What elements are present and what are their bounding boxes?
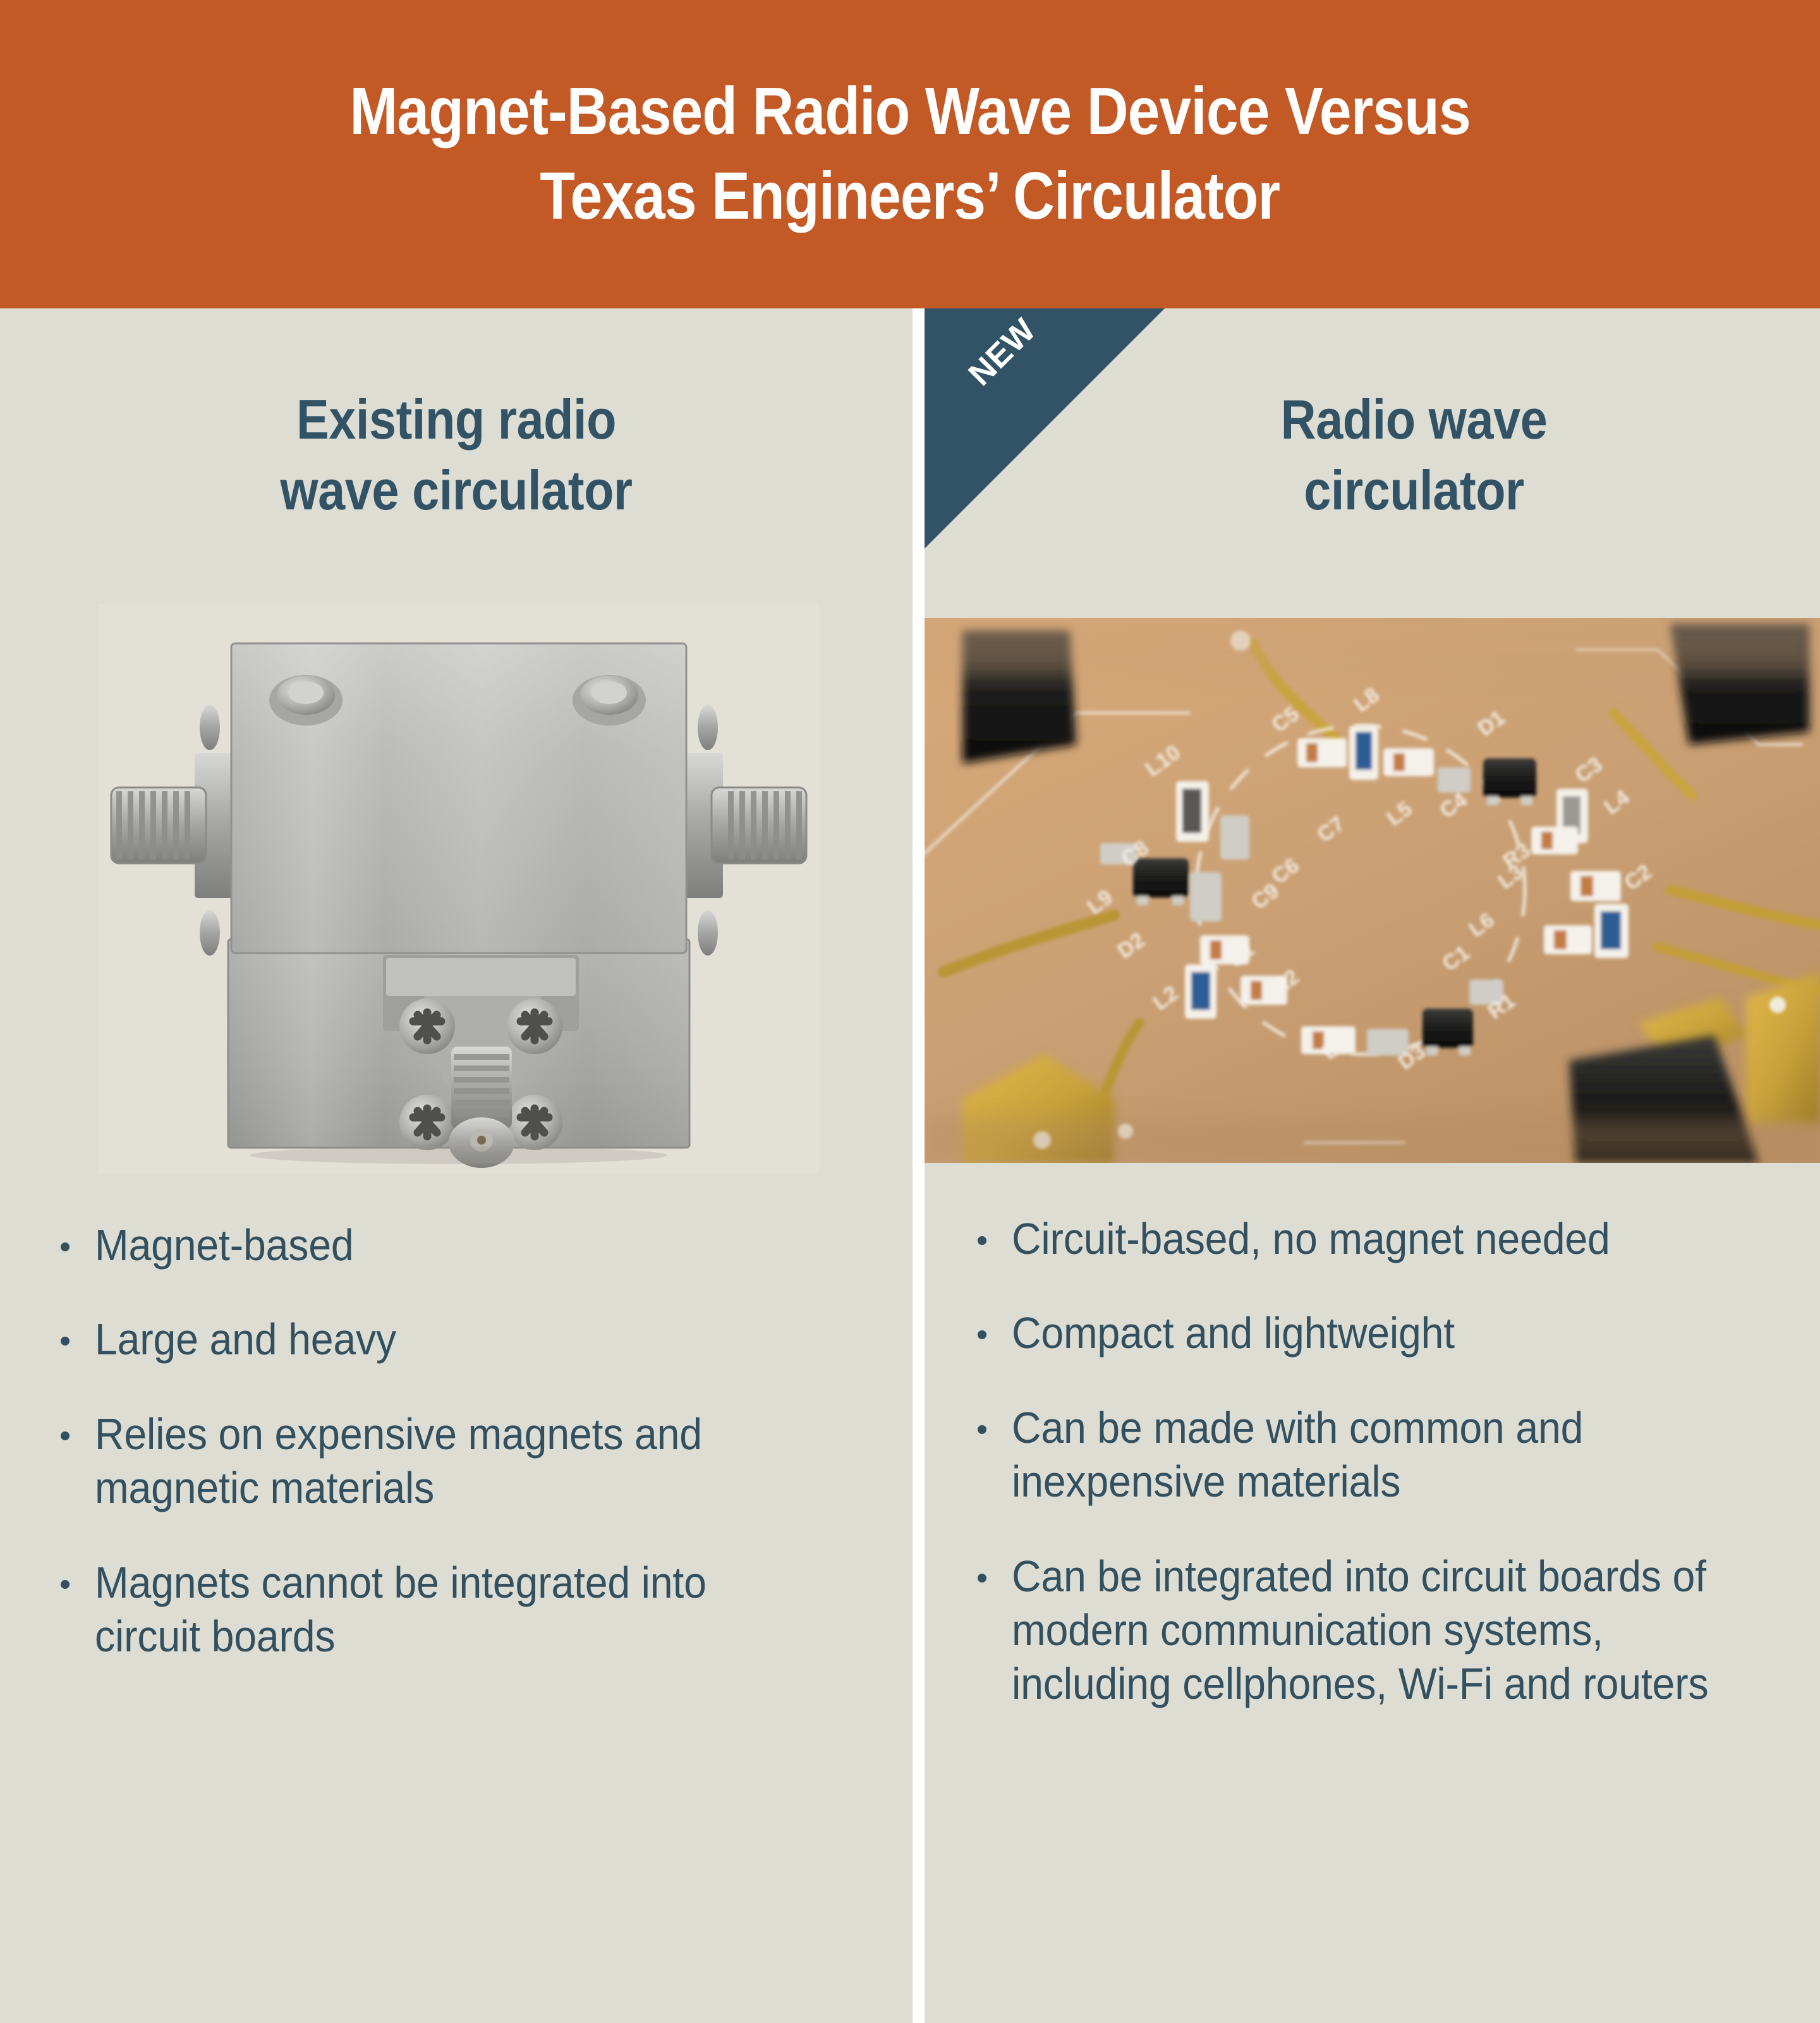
bullet-text: Large and heavy <box>95 1313 783 1366</box>
right-panel-bullet-list: Circuit-based, no magnet needed Compact … <box>925 1212 1820 1752</box>
bullet-dot-icon <box>61 1431 70 1440</box>
bullet-text: Can be integrated into circuit boards of… <box>1012 1550 1720 1711</box>
bullet-dot-icon <box>61 1242 70 1251</box>
existing-circulator-photo <box>99 604 819 1173</box>
column-divider <box>913 308 925 2023</box>
list-item: Can be integrated into circuit boards of… <box>978 1550 1782 1711</box>
list-item: Magnet-based <box>61 1218 843 1272</box>
bullet-text: Relies on expensive magnets and magnetic… <box>95 1407 783 1516</box>
bullet-dot-icon <box>61 1580 70 1589</box>
list-item: Compact and lightweight <box>978 1306 1782 1360</box>
bullet-text: Magnet-based <box>95 1218 783 1272</box>
list-item: Large and heavy <box>61 1313 843 1366</box>
list-item: Circuit-based, no magnet needed <box>978 1212 1782 1266</box>
infographic-page: Magnet-Based Radio Wave Device Versus Te… <box>0 0 1820 2023</box>
bullet-text: Can be made with common and inexpensive … <box>1012 1401 1720 1509</box>
bullet-text: Compact and lightweight <box>1012 1306 1720 1360</box>
left-heading-line-2: wave circulator <box>55 455 858 526</box>
bullet-dot-icon <box>61 1337 70 1346</box>
bullet-dot-icon <box>978 1236 986 1245</box>
left-panel: Existing radio wave circulator <box>0 308 913 2023</box>
bullet-dot-icon <box>978 1330 986 1339</box>
page-header: Magnet-Based Radio Wave Device Versus Te… <box>0 0 1820 308</box>
new-badge-triangle <box>925 308 1165 549</box>
bullet-text: Circuit-based, no magnet needed <box>1012 1212 1720 1266</box>
list-item: Relies on expensive magnets and magnetic… <box>61 1407 843 1516</box>
left-panel-heading: Existing radio wave circulator <box>55 384 858 526</box>
comparison-body: Existing radio wave circulator <box>0 308 1820 2023</box>
right-panel: NEW Radio wave circulator <box>925 308 1820 2023</box>
bullet-dot-icon <box>978 1425 986 1434</box>
page-title-line-2: Texas Engineers’ Circulator <box>540 154 1280 239</box>
bullet-dot-icon <box>978 1574 986 1583</box>
left-heading-line-1: Existing radio <box>55 384 858 455</box>
right-heading-line-2: circulator <box>1062 455 1766 526</box>
right-heading-line-1: Radio wave <box>1062 384 1766 455</box>
bullet-text: Magnets cannot be integrated into circui… <box>95 1556 783 1664</box>
page-title-line-1: Magnet-Based Radio Wave Device Versus <box>349 70 1470 154</box>
new-circulator-pcb-photo: C5 L8 L10 C8 L9 D2 C6 C7 L5 C4 D1 C3 <box>925 618 1820 1163</box>
left-panel-bullet-list: Magnet-based Large and heavy Relies on e… <box>0 1218 913 1704</box>
new-badge: NEW <box>925 308 1165 549</box>
list-item: Can be made with common and inexpensive … <box>978 1401 1782 1509</box>
list-item: Magnets cannot be integrated into circui… <box>61 1556 843 1664</box>
